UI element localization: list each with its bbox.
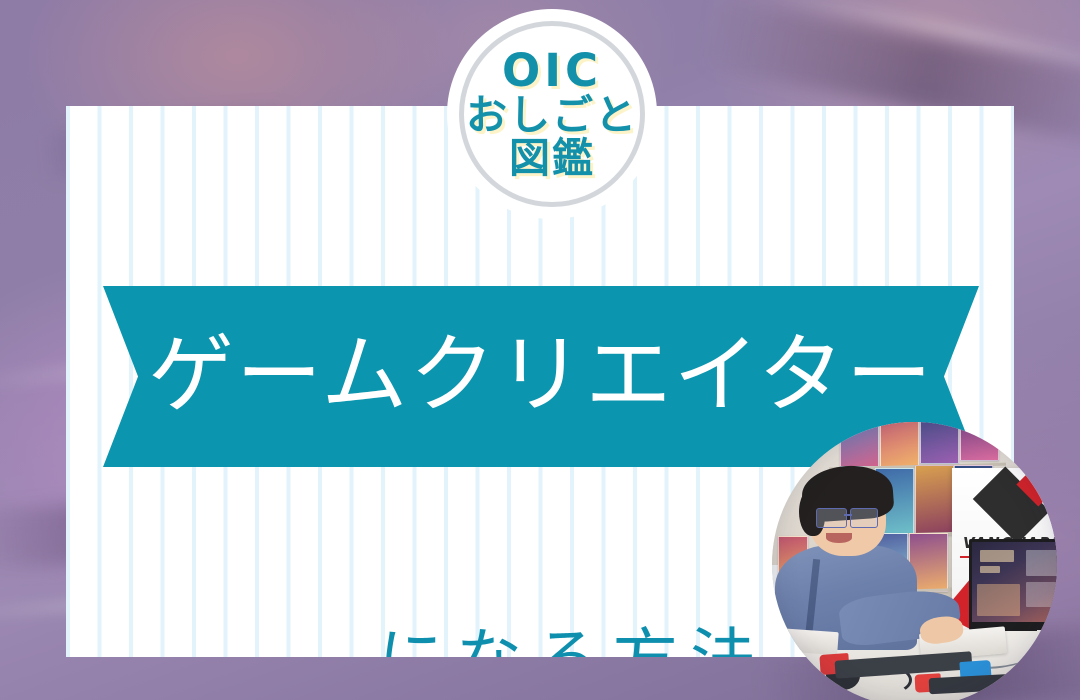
photo-keyboard [919,626,1007,660]
photo-vanguard-wordmark: VANGUARD [963,533,1057,553]
photo-vanguard-red-wedge [942,577,1007,631]
photo-monitor-screen [972,542,1058,622]
oic-logo-badge: OIC おしごと 図鑑 [447,9,657,219]
logo-badge-text: OIC おしごと 図鑑 [447,9,657,219]
photo-poster [920,422,959,464]
main-title-text: ゲームクリエイター [148,332,934,418]
photo-vanguard-red-rule [960,556,1057,558]
photo-game-controller [834,651,972,678]
logo-line-zukan: 図鑑 [509,138,595,180]
photo-poster [869,533,908,592]
photo-poster [960,422,999,461]
photo-controller2-left-grip [914,674,941,694]
photo-poster [829,536,868,592]
photo-poster [778,536,809,584]
photo-person-hand [919,614,965,645]
photo-poster [915,465,954,535]
circular-portrait-photo: VANGUARD [772,422,1057,700]
photo-monitor-ui-tile [980,550,1014,561]
photo-headset-mic-boom [875,661,955,668]
photo-poster [909,533,948,592]
photo-controller-left-grip [820,653,850,675]
photo-monitor-ui-tile [980,566,1000,573]
photo-person-arm [838,586,963,649]
photo-poster [835,470,874,535]
photo-controller-right-grip [959,660,992,682]
photo-monitor-ui-tile [977,584,1020,615]
photo-poster [954,465,993,533]
photo-person-sideburn [799,488,825,536]
photo-lower-wall [772,587,1057,627]
photo-monitor-ui-tile [1026,550,1057,576]
photo-monitor-bezel [969,539,1057,630]
photo-headset-band [838,664,912,696]
photo-poster [875,468,914,536]
photo-poster [840,422,879,467]
logo-line-oic: OIC [502,48,602,94]
photo-poster [880,422,919,467]
logo-line-oshigoto: おしごと [466,95,638,137]
photo-monitor-stand [1000,622,1037,631]
subtitle-text: になる方法 [378,621,768,657]
poster-canvas: になる方法 ゲームクリエイター OIC おしごと 図鑑 [0,0,1080,700]
